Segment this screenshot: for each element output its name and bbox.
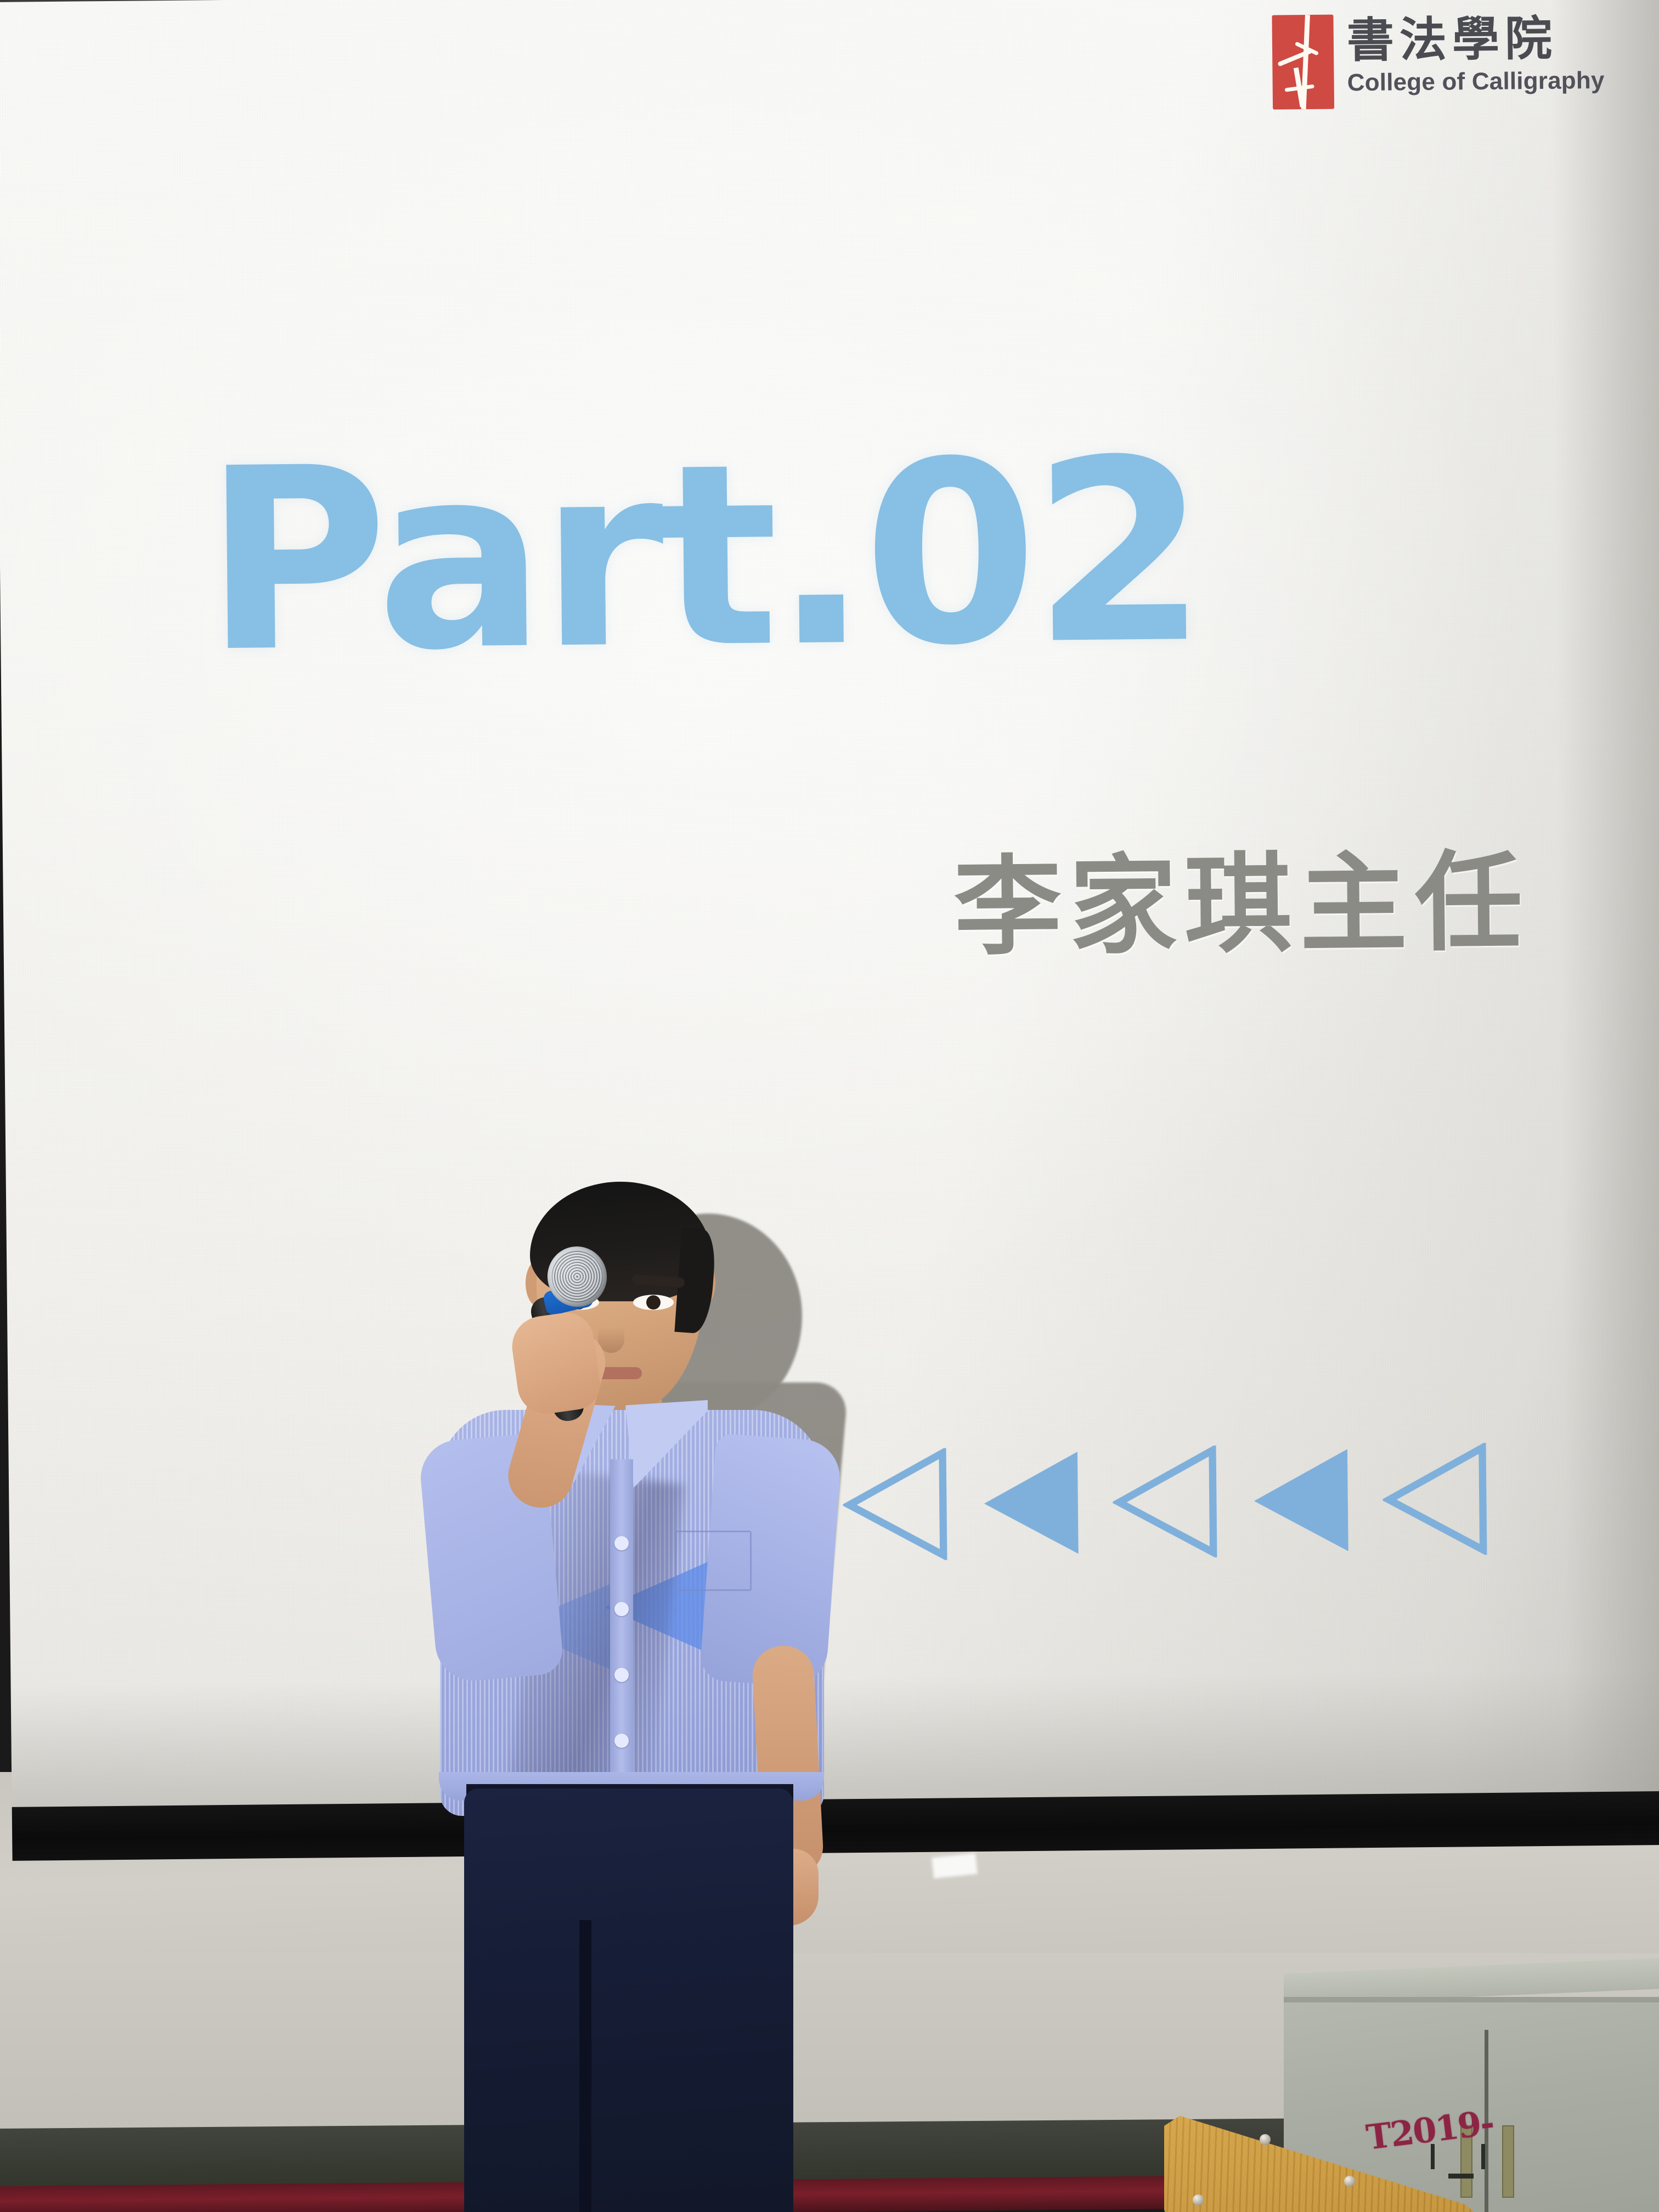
shirt-placket (610, 1459, 633, 1821)
triangle-filled-icon (1247, 1444, 1352, 1557)
nose (598, 1310, 624, 1353)
logo-english-name: College of Calligraphy (1347, 67, 1604, 97)
cabinet-dash-mark (1448, 2174, 1474, 2179)
speaker-person (417, 1152, 889, 2212)
chair-screw (1344, 2176, 1355, 2187)
triangle-outline-icon (1382, 1443, 1487, 1556)
college-logo: 書法學院 College of Calligraphy (1272, 12, 1605, 110)
shirt-button (614, 1536, 629, 1550)
calligraphy-seal-icon (1272, 15, 1335, 110)
hand-left-holding-mic (508, 1309, 603, 1417)
chair-screw (1193, 2194, 1204, 2205)
presentation-photo: 書法學院 College of Calligraphy Part.02 李家琪主… (0, 0, 1659, 2212)
logo-chinese-name: 書法學院 (1347, 14, 1605, 65)
cabinet-tick-mark (1481, 2144, 1485, 2169)
eye-right (633, 1295, 674, 1310)
cabinet-tick-mark (1431, 2144, 1435, 2169)
trouser-inseam (579, 1920, 591, 2212)
logo-text-group: 書法學院 College of Calligraphy (1347, 12, 1605, 97)
slide-subheadline: 李家琪主任 (953, 849, 1531, 962)
shirt-pocket (675, 1531, 752, 1591)
trousers (464, 1788, 793, 2212)
shirt-button (614, 1668, 629, 1682)
triangle-outline-icon (1112, 1446, 1217, 1559)
chair-screw (1260, 2134, 1271, 2145)
shirt-button (614, 1602, 629, 1616)
shirt-button (614, 1734, 629, 1748)
cabinet-handle[interactable] (1502, 2125, 1514, 2198)
slide-headline: Part.02 (203, 430, 1203, 685)
triangle-decoration-row (843, 1443, 1488, 1561)
triangle-filled-icon (977, 1447, 1082, 1560)
